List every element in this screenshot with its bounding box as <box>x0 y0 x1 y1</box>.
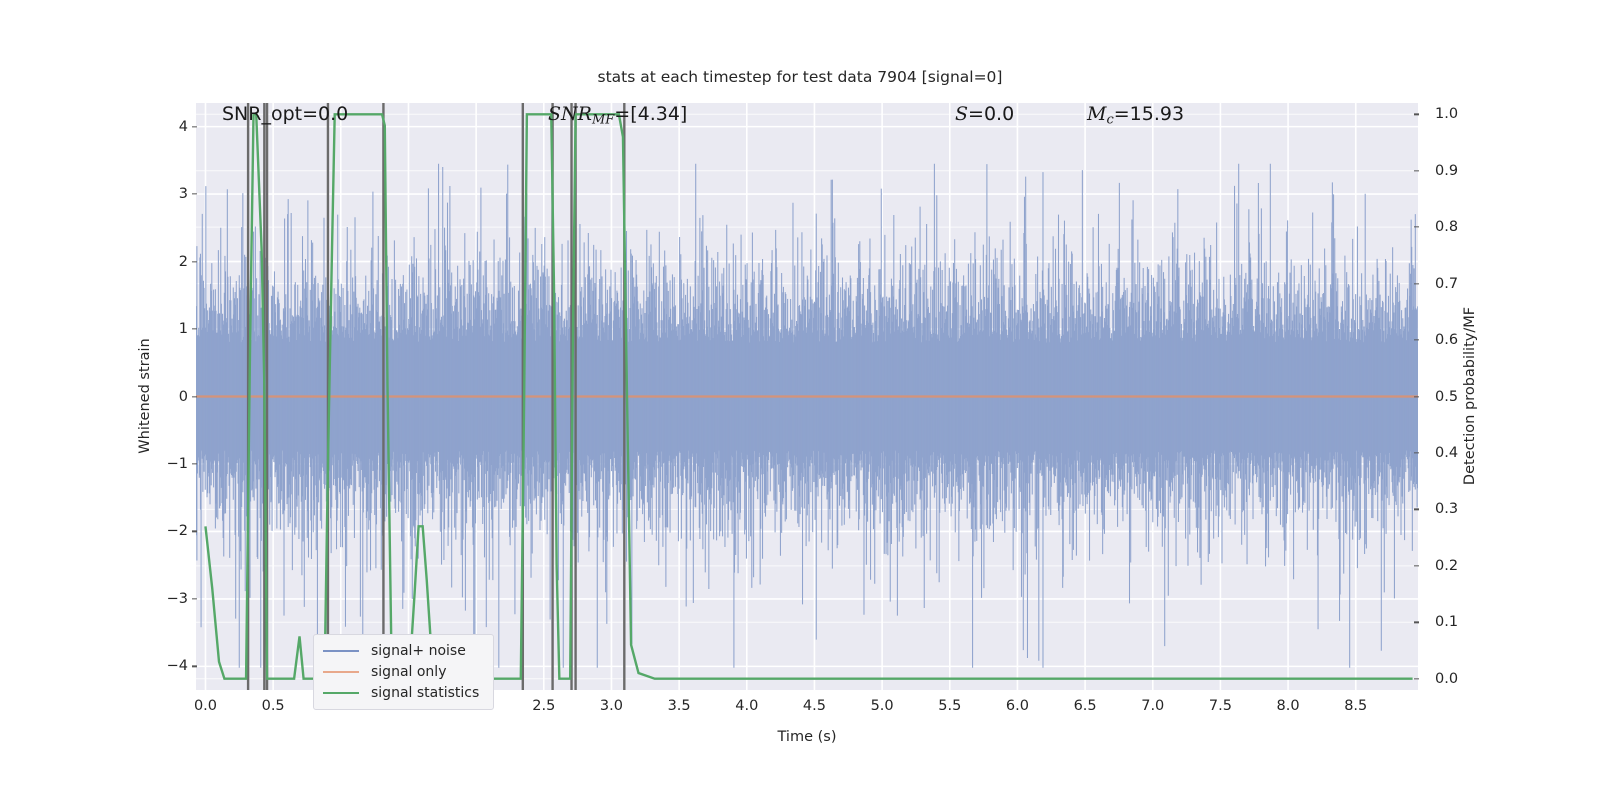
legend-label: signal only <box>371 664 446 680</box>
y-tick-right-9: 0.1 <box>1424 614 1494 630</box>
y-tick-right-8: 0.2 <box>1424 558 1494 574</box>
y-tick-right-0: 1.0 <box>1424 106 1494 122</box>
y-tick-right-7: 0.3 <box>1424 501 1494 517</box>
figure-root: stats at each timestep for test data 790… <box>0 0 1600 800</box>
legend-swatch-icon <box>323 671 359 673</box>
legend-item-0[interactable]: signal+ noise <box>314 640 493 661</box>
x-tick-13: 6.5 <box>1055 698 1115 714</box>
figure-title: stats at each timestep for test data 790… <box>0 68 1600 86</box>
x-tick-16: 8.0 <box>1258 698 1318 714</box>
mc-annotation: Mc=15.93 <box>1087 103 1184 128</box>
y-tick-left-2: 2 <box>128 254 188 270</box>
legend-item-2[interactable]: signal statistics <box>314 682 493 703</box>
x-tick-12: 6.0 <box>987 698 1047 714</box>
x-axis-label: Time (s) <box>778 729 837 745</box>
x-tick-9: 4.5 <box>784 698 844 714</box>
y-tick-right-5: 0.5 <box>1424 389 1494 405</box>
legend-swatch-icon <box>323 692 359 694</box>
x-tick-7: 3.5 <box>649 698 709 714</box>
x-tick-15: 7.5 <box>1190 698 1250 714</box>
y-axis-right-label: Detection probability/MF <box>1462 307 1478 485</box>
noise-series <box>196 164 1417 668</box>
x-tick-11: 5.5 <box>920 698 980 714</box>
y-tick-right-2: 0.8 <box>1424 219 1494 235</box>
legend-item-1[interactable]: signal only <box>314 661 493 682</box>
legend-swatch-icon <box>323 650 359 652</box>
x-tick-6: 3.0 <box>581 698 641 714</box>
y-axis-left-label: Whitened strain <box>137 338 153 453</box>
s-annotation: S=0.0 <box>955 103 1014 125</box>
y-tick-right-3: 0.7 <box>1424 276 1494 292</box>
y-tick-right-4: 0.6 <box>1424 332 1494 348</box>
y-tick-right-10: 0.0 <box>1424 671 1494 687</box>
x-tick-14: 7.0 <box>1123 698 1183 714</box>
y-tick-left-3: 1 <box>128 321 188 337</box>
snr-mf-annotation: SNRMF=[4.34] <box>548 103 687 128</box>
y-tick-left-7: −3 <box>128 591 188 607</box>
x-tick-5: 2.5 <box>514 698 574 714</box>
y-tick-left-8: −4 <box>128 658 188 674</box>
x-tick-17: 8.5 <box>1326 698 1386 714</box>
y-tick-right-1: 0.9 <box>1424 163 1494 179</box>
y-tick-left-5: −1 <box>128 456 188 472</box>
snr-opt-annotation: SNR_opt=0.0 <box>222 103 348 125</box>
legend-label: signal statistics <box>371 685 479 701</box>
plot-canvas <box>196 103 1418 690</box>
plot-area <box>196 103 1418 690</box>
y-tick-left-0: 4 <box>128 119 188 135</box>
y-tick-left-6: −2 <box>128 523 188 539</box>
x-tick-10: 5.0 <box>852 698 912 714</box>
y-tick-left-1: 3 <box>128 186 188 202</box>
legend-label: signal+ noise <box>371 643 466 659</box>
x-tick-8: 4.0 <box>717 698 777 714</box>
legend-box: signal+ noisesignal onlysignal statistic… <box>313 634 494 710</box>
x-tick-1: 0.5 <box>243 698 303 714</box>
x-tick-0: 0.0 <box>175 698 235 714</box>
y-tick-right-6: 0.4 <box>1424 445 1494 461</box>
